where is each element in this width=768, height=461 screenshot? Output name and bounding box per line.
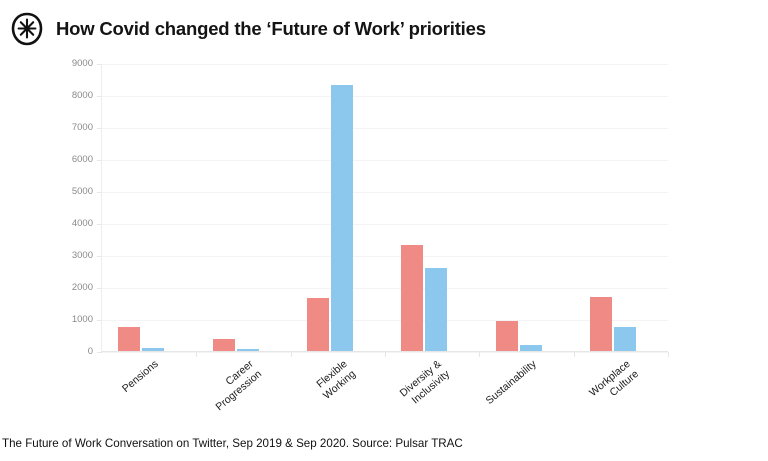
bar-group [307, 64, 353, 352]
y-axis-tick-label: 3000 [0, 251, 93, 261]
x-axis-tick-mark [479, 352, 480, 357]
bar[interactable] [614, 327, 636, 352]
gridline [102, 256, 668, 257]
x-axis-category-label: CareerProgression [162, 358, 264, 449]
bar-group [496, 64, 542, 352]
y-axis-line [101, 64, 102, 352]
bar[interactable] [401, 245, 423, 352]
asterisk-badge-icon [10, 12, 44, 46]
x-axis-tick-mark [196, 352, 197, 357]
gridline [102, 224, 668, 225]
x-axis-category-label: Sustainability [445, 358, 539, 440]
x-axis-label-line: Workplace [539, 358, 633, 440]
y-axis-tick-label: 6000 [0, 155, 93, 165]
bar[interactable] [118, 327, 140, 352]
y-axis-tick-label: 9000 [0, 59, 93, 69]
x-axis-tick-mark [291, 352, 292, 357]
x-axis-category-label: Pensions [67, 358, 161, 440]
bar-group [401, 64, 447, 352]
bar-group [213, 64, 259, 352]
x-axis-label-line: Diversity & [350, 358, 444, 440]
bar[interactable] [331, 85, 353, 352]
x-axis-category-label: Diversity &Inclusivity [350, 358, 452, 449]
x-axis-category-label: FlexibleWorking [256, 358, 358, 449]
x-axis-label-line: Pensions [67, 358, 161, 440]
x-axis-category-label: WorkplaceCulture [539, 358, 641, 449]
gridline [102, 96, 668, 97]
plot-area [102, 64, 668, 352]
gridline [102, 160, 668, 161]
x-axis-label-line: Sustainability [445, 358, 539, 440]
y-axis-tick-label: 8000 [0, 91, 93, 101]
y-axis-tick-label: 5000 [0, 187, 93, 197]
bar[interactable] [425, 268, 447, 352]
gridline [102, 64, 668, 65]
gridline [102, 192, 668, 193]
bar-group [118, 64, 164, 352]
bar-group [590, 64, 636, 352]
bar[interactable] [590, 297, 612, 352]
chart-source-caption: The Future of Work Conversation on Twitt… [0, 437, 768, 450]
bar[interactable] [307, 298, 329, 352]
x-axis-tick-mark [385, 352, 386, 357]
bar[interactable] [496, 321, 518, 352]
bar-chart: 0100020003000400050006000700080009000 Pe… [0, 58, 768, 433]
chart-header: How Covid changed the ‘Future of Work’ p… [0, 0, 768, 58]
gridline [102, 128, 668, 129]
y-axis-tick-label: 2000 [0, 283, 93, 293]
gridline [102, 288, 668, 289]
x-axis-tick-mark [574, 352, 575, 357]
y-axis-tick-label: 0 [0, 347, 93, 357]
x-axis-tick-mark [668, 352, 669, 357]
y-axis-tick-label: 4000 [0, 219, 93, 229]
gridline [102, 320, 668, 321]
page-title: How Covid changed the ‘Future of Work’ p… [56, 18, 486, 40]
y-axis-tick-label: 7000 [0, 123, 93, 133]
x-axis-label-line: Flexible [256, 358, 350, 440]
x-axis-label-line: Career [162, 358, 256, 440]
y-axis-tick-label: 1000 [0, 315, 93, 325]
